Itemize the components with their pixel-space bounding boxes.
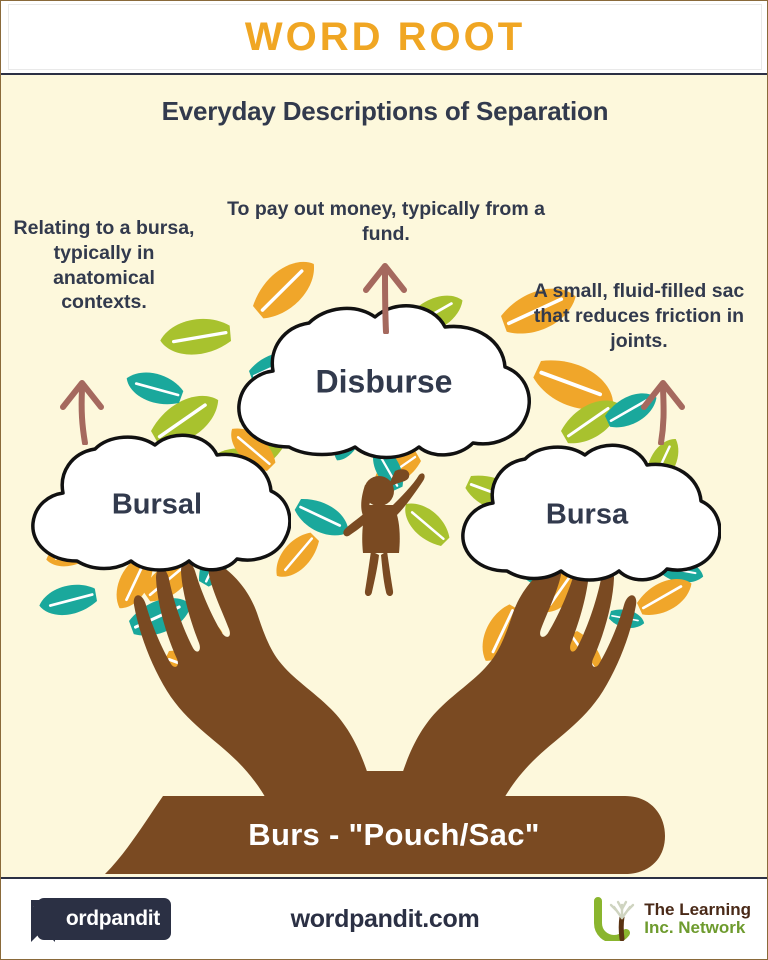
cloud-shape-icon [453, 441, 721, 589]
page-title: WORD ROOT [245, 17, 525, 57]
cloud-bursal[interactable]: Bursal [23, 431, 291, 579]
partner-line-2: Inc. Network [644, 919, 751, 937]
the-learning-inc-network-logo[interactable]: The Learning Inc. Network [592, 897, 751, 941]
cloud-shape-icon [23, 431, 291, 579]
arrow-up-left [53, 373, 113, 450]
infographic-page: WORD ROOT Everyday Descriptions of Separ… [0, 0, 768, 960]
cloud-bursa[interactable]: Bursa [453, 441, 721, 589]
partner-line-1: The Learning [644, 901, 751, 919]
arrow-up-center [356, 256, 416, 339]
footer-inner: ordpandit wordpandit.com [1, 879, 768, 959]
root-label: Burs - "Pouch/Sac" [105, 796, 665, 874]
description-bursal: Relating to a bursa, typically in anatom… [9, 216, 199, 315]
header-bar: WORD ROOT [1, 1, 768, 75]
header-inner-frame: WORD ROOT [8, 4, 762, 70]
partner-logo-text: The Learning Inc. Network [644, 901, 751, 938]
arrow-up-right [634, 373, 694, 450]
footer-bar: ordpandit wordpandit.com [1, 877, 768, 959]
description-disburse: To pay out money, typically from a fund. [206, 197, 566, 247]
girl-silhouette [343, 469, 424, 596]
root-banner: Burs - "Pouch/Sac" [105, 796, 665, 874]
subtitle: Everyday Descriptions of Separation [1, 96, 768, 127]
tree-u-icon [592, 897, 638, 941]
description-bursa: A small, fluid-filled sac that reduces f… [519, 279, 759, 353]
